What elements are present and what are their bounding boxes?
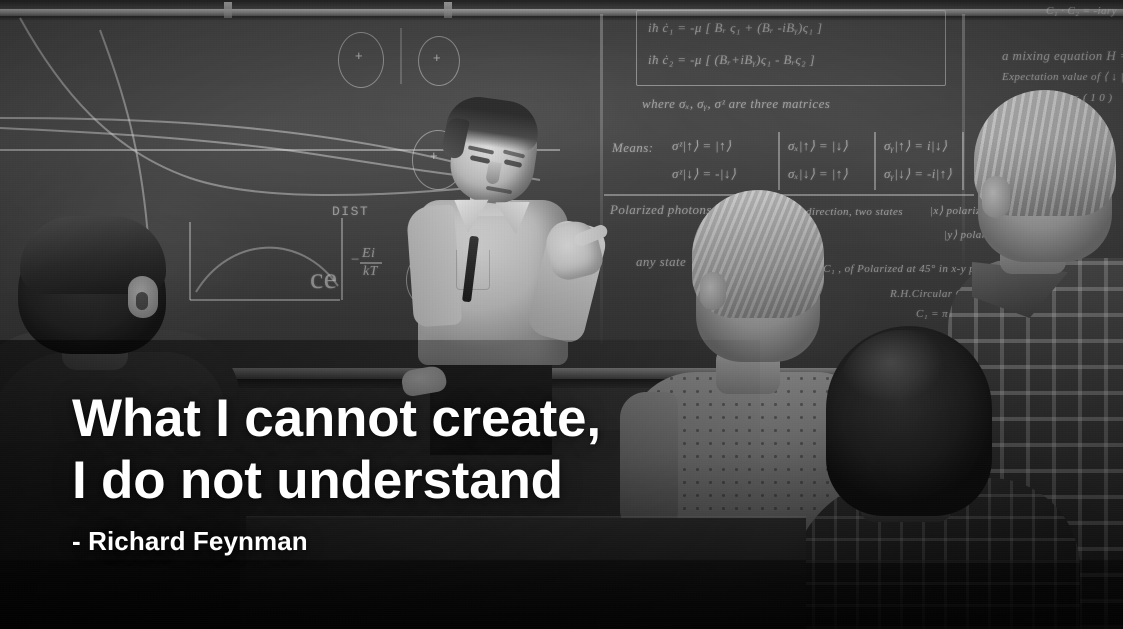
chalk-plus-mark: + <box>355 48 363 63</box>
chalk-polarization-note: direction, two states <box>806 206 903 218</box>
chalk-plus-mark: + <box>430 148 438 163</box>
chalk-polarization-note: Polarized photons <box>610 202 712 218</box>
chalk-equation-line-1: iħ ċ₁ = -μ [ Bᵣ ς₁ + (Bᵣ -iBᵧ)ς₁ ] <box>648 20 822 36</box>
chalk-means-cell: σₓ|↑⟩ = |↓⟩ <box>788 138 848 154</box>
chalk-plus-mark: + <box>433 50 441 65</box>
quote-block: What I cannot create, I do not understan… <box>72 388 772 512</box>
chalk-note-c-relation: C₁ · C₂ = -iary <box>1046 5 1117 17</box>
chalk-table-divider <box>874 132 876 190</box>
chalk-note-expectation: Expectation value of ⟨ ↓ | σᶻ | ↑ ⟩ <box>1002 70 1123 83</box>
quote-line-1: What I cannot create, <box>72 388 772 450</box>
chalk-exponent-numerator: Ei <box>362 246 375 262</box>
chalk-means-cell: σᵧ|↑⟩ = i|↓⟩ <box>884 138 947 154</box>
chalk-table-divider <box>778 132 780 190</box>
chalk-exponent-denominator: kT <box>363 264 378 280</box>
chalk-exponent-minus: − <box>350 252 361 269</box>
chalk-means-label: Means: <box>612 140 653 156</box>
chalk-divider <box>400 28 402 84</box>
chalk-table-rule <box>604 194 974 196</box>
student-a-ear <box>700 272 726 310</box>
quote-line-2: I do not understand <box>72 450 772 512</box>
chalk-polarization-note: any state <box>636 254 686 270</box>
chalk-polarization-note: |↑⟩ C₁ , of Polarized at 45° in x-y plan… <box>806 262 996 275</box>
quote-attribution: - Richard Feynman <box>72 524 308 558</box>
student-c-ear <box>982 176 1010 218</box>
chalk-means-cell: σᶻ|↓⟩ = -|↓⟩ <box>672 166 736 182</box>
student-left-ear-canal <box>136 292 148 310</box>
chalk-means-cell: σₓ|↓⟩ = |↑⟩ <box>788 166 848 182</box>
chalk-exponential-equation: ce <box>310 262 337 296</box>
chalk-dist-label: DIST <box>332 204 369 219</box>
chalk-equation-line-2: iħ ċ₂ = -μ [ (Bᵣ+iBᵧ)ς₁ - Bᵣς₂ ] <box>648 52 815 68</box>
chalk-table-divider <box>962 132 964 190</box>
chalk-note-mixing-equation: a mixing equation H = -μ (σ·B) <box>1002 48 1123 64</box>
feynman-left-shoulder <box>406 204 462 327</box>
chalk-note-sigma-matrices: where σₓ, σᵧ, σᶻ are three matrices <box>642 96 830 112</box>
foreground-shadow <box>0 560 1123 629</box>
quote-card: DIST ce − Ei kT + + + + iħ ċ₁ = -μ [ Bᵣ … <box>0 0 1123 629</box>
chalk-means-cell: σᵧ|↓⟩ = -i|↑⟩ <box>884 166 952 182</box>
chalk-means-cell: σᶻ|↑⟩ = |↑⟩ <box>672 138 732 154</box>
